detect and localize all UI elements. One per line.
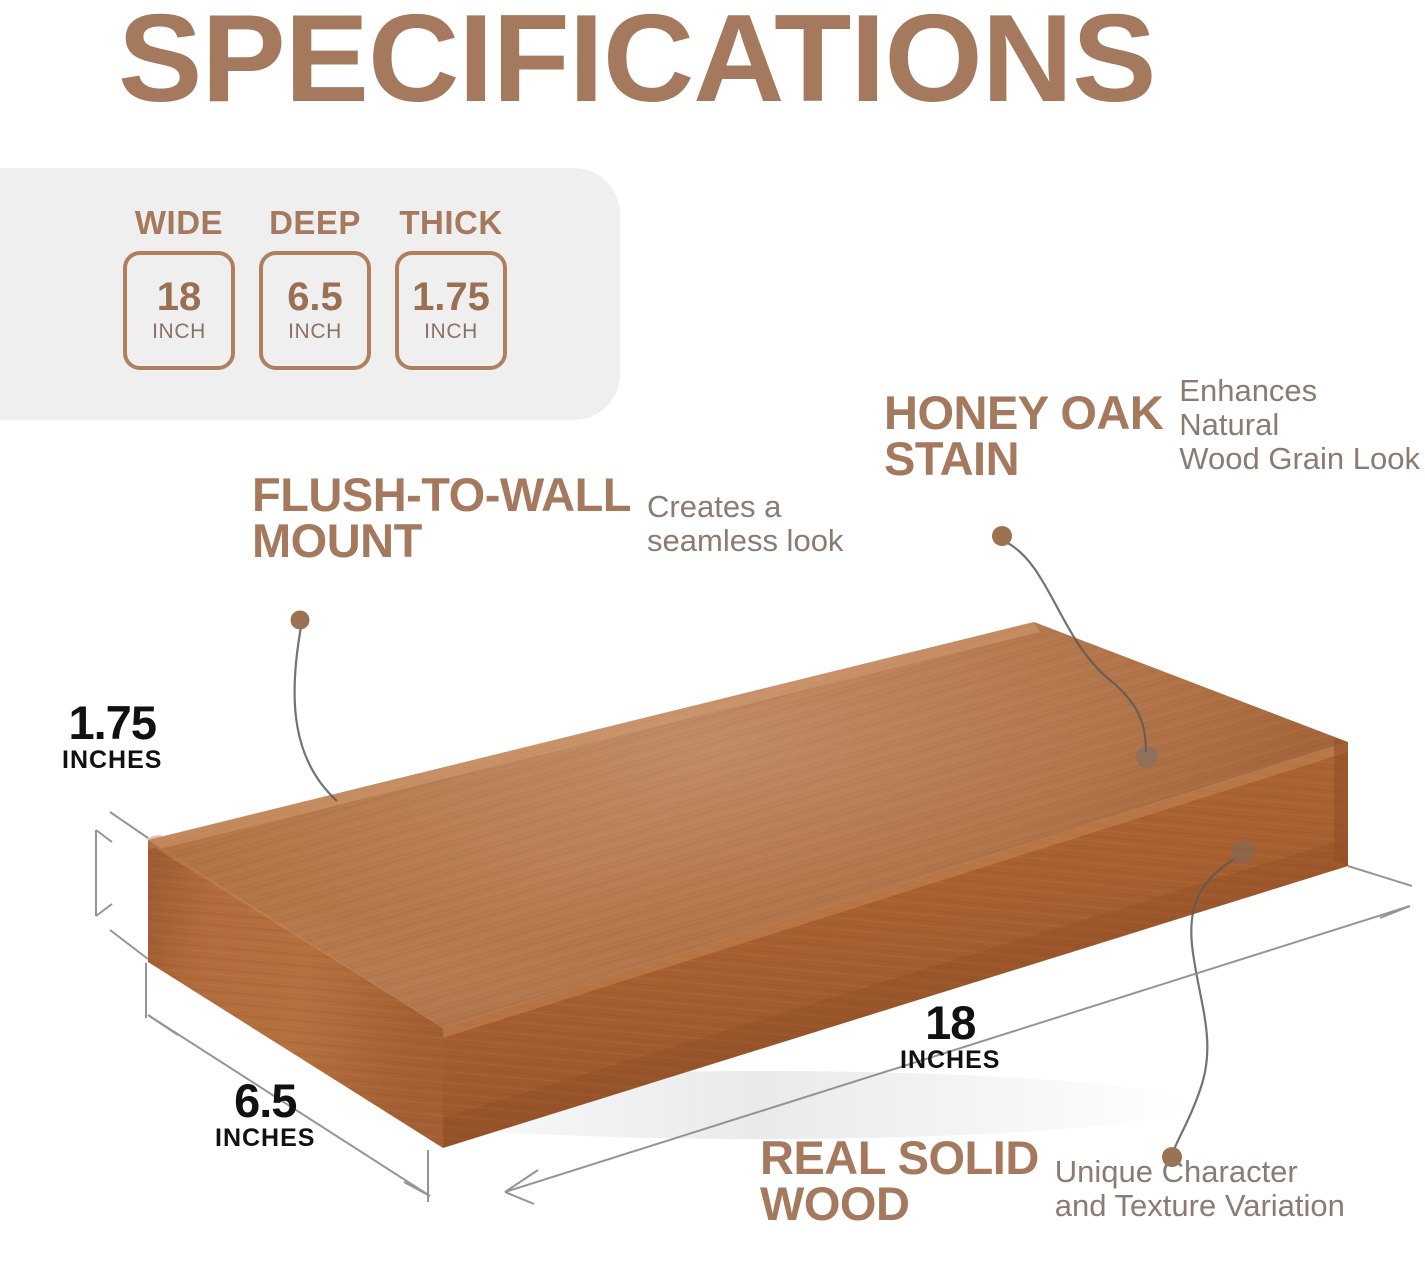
shelf-shadow xyxy=(330,1071,1190,1139)
callout-subtitle-wood: Unique Character and Texture Variation xyxy=(1055,1155,1345,1227)
dim-tick-depth-start xyxy=(148,1015,178,1035)
spec-value-deep: 6.5 xyxy=(287,277,343,317)
leader-line-honey xyxy=(1006,542,1146,752)
dimension-value-width: 18 xyxy=(900,1000,1000,1045)
spec-value-thick: 1.75 xyxy=(412,277,490,317)
shelf-side-face xyxy=(443,742,1348,1148)
dim-arrow-thickness-top xyxy=(96,830,112,842)
shelf-end-grain-face xyxy=(1334,738,1348,866)
spec-item-deep: DEEP 6.5 INCH xyxy=(258,204,372,370)
spec-item-thick: THICK 1.75 INCH xyxy=(394,204,508,370)
spec-box-deep: 6.5 INCH xyxy=(259,251,371,370)
spec-label-deep: DEEP xyxy=(269,204,361,242)
callout-flush-to-wall-mount: FLUSH-TO-WALL MOUNT Creates a seamless l… xyxy=(252,472,843,564)
spec-unit-thick: INCH xyxy=(424,320,478,344)
dim-tick-thickness-top xyxy=(110,812,148,838)
spec-item-wide: WIDE 18 INCH xyxy=(122,204,236,370)
spec-row: WIDE 18 INCH DEEP 6.5 INCH THICK 1.75 IN… xyxy=(122,204,508,370)
spec-box-wide: 18 INCH xyxy=(123,251,235,370)
dimension-unit-thickness: INCHES xyxy=(62,746,162,775)
dimension-value-depth: 6.5 xyxy=(215,1078,315,1123)
dimension-unit-width: INCHES xyxy=(900,1046,1000,1075)
callout-honey-oak-stain: HONEY OAK STAIN Enhances Natural Wood Gr… xyxy=(884,374,1425,482)
leader-target-honey xyxy=(1136,746,1158,768)
callout-subtitle-honey: Enhances Natural Wood Grain Look xyxy=(1179,374,1425,482)
dim-tick-thickness-bottom xyxy=(110,930,148,959)
callout-title-flush: FLUSH-TO-WALL MOUNT xyxy=(252,472,631,564)
callout-title-honey: HONEY OAK STAIN xyxy=(884,390,1163,482)
spec-box-thick: 1.75 INCH xyxy=(395,251,507,370)
page-title: SPECIFICATIONS xyxy=(118,0,1155,124)
dimension-value-thickness: 1.75 xyxy=(62,700,162,745)
dim-arrow-thickness-bottom xyxy=(96,904,112,916)
specifications-card: WIDE 18 INCH DEEP 6.5 INCH THICK 1.75 IN… xyxy=(0,168,620,420)
spec-label-thick: THICK xyxy=(399,204,502,242)
shelf-top-face xyxy=(148,622,1348,1028)
dim-ext-width-right xyxy=(1348,866,1412,886)
infographic-canvas: SPECIFICATIONS WIDE 18 INCH DEEP 6.5 INC… xyxy=(0,0,1425,1279)
dimension-label-width: 18 INCHES xyxy=(900,1000,1000,1075)
leader-dot-flush xyxy=(291,611,310,630)
callout-real-solid-wood: REAL SOLID WOOD Unique Character and Tex… xyxy=(760,1135,1345,1227)
leader-target-wood xyxy=(1231,840,1255,864)
callout-title-wood: REAL SOLID WOOD xyxy=(760,1135,1039,1227)
dim-arrow-depth-end xyxy=(404,1182,430,1196)
dim-tick-width-left xyxy=(505,1170,538,1192)
dim-arrow-width-right xyxy=(1380,906,1410,918)
callout-subtitle-flush: Creates a seamless look xyxy=(647,490,843,564)
leader-line-wood xyxy=(1174,858,1236,1150)
spec-value-wide: 18 xyxy=(157,277,202,317)
leader-line-flush xyxy=(295,627,337,801)
spec-label-wide: WIDE xyxy=(135,204,223,242)
spec-unit-wide: INCH xyxy=(152,320,206,344)
dimension-unit-depth: INCHES xyxy=(215,1124,315,1153)
spec-unit-deep: INCH xyxy=(288,320,342,344)
dimension-label-depth: 6.5 INCHES xyxy=(215,1078,315,1153)
leader-dot-honey xyxy=(992,526,1012,546)
dimension-label-thickness: 1.75 INCHES xyxy=(62,700,162,775)
dim-tick-width-left2 xyxy=(505,1192,534,1204)
